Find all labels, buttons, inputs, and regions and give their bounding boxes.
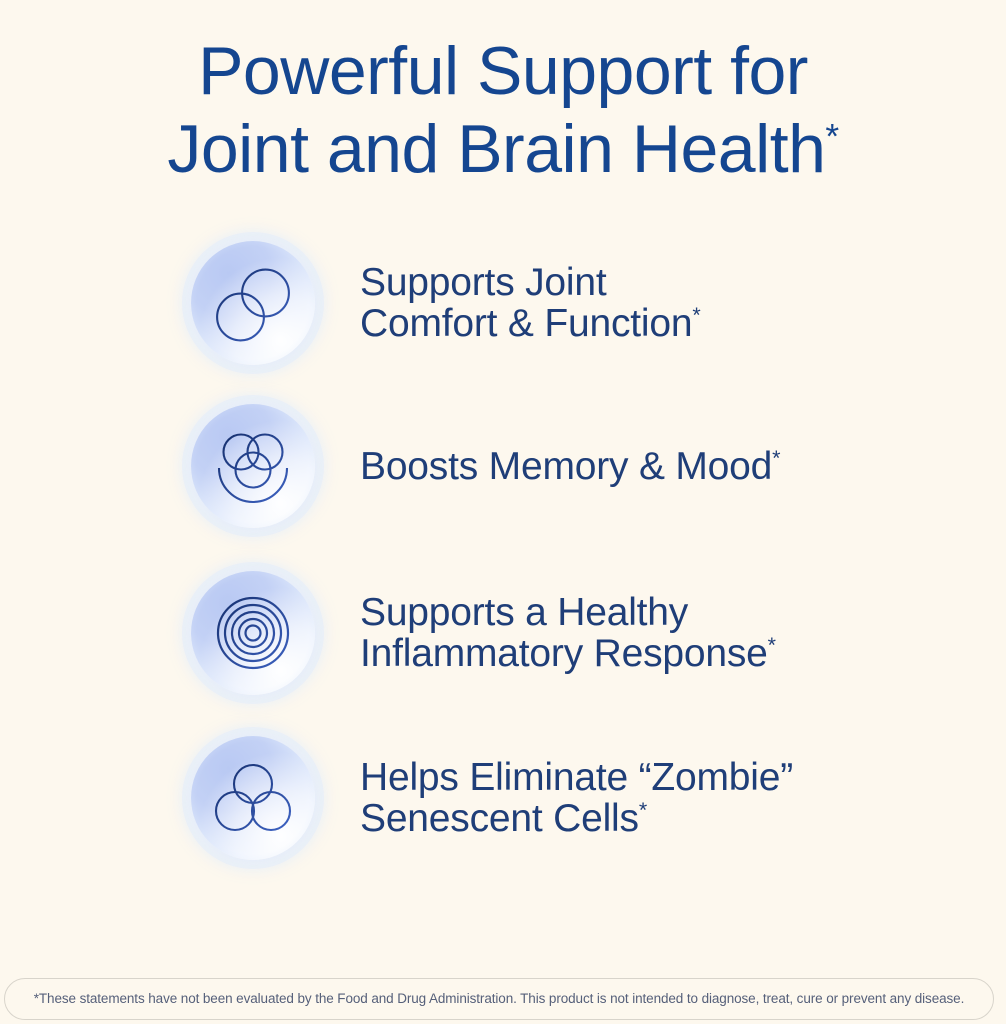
disclaimer-text: *These statements have not been evaluate…	[34, 991, 964, 1007]
benefit-label-line-2: Inflammatory Response*	[360, 633, 776, 674]
two-overlapping-circles-joint-icon	[191, 241, 315, 365]
benefit-label-line-1-text: Boosts Memory & Mood	[360, 445, 772, 488]
benefit-item-inflammatory-response: Supports a Healthy Inflammatory Response…	[0, 558, 1006, 708]
benefit-label: Supports Joint Comfort & Function*	[360, 262, 701, 344]
benefit-icon-wrapper	[180, 725, 326, 871]
benefit-label: Boosts Memory & Mood*	[360, 446, 780, 487]
promotional-benefits-panel: Powerful Support for Joint and Brain Hea…	[0, 0, 1006, 1024]
benefit-asterisk: *	[692, 303, 700, 327]
benefit-asterisk: *	[768, 633, 776, 657]
benefit-label: Supports a Healthy Inflammatory Response…	[360, 592, 776, 674]
benefit-label-line-1: Supports Joint	[360, 262, 701, 303]
benefit-asterisk: *	[639, 798, 647, 822]
benefit-label-line-2: Comfort & Function*	[360, 303, 701, 344]
page-title-line-2-text: Joint and Brain Health	[167, 111, 825, 187]
benefit-label-line-1: Supports a Healthy	[360, 592, 776, 633]
page-title-line-1: Powerful Support for	[0, 32, 1006, 110]
benefit-icon-wrapper	[180, 230, 326, 376]
benefit-label-line-2-text: Inflammatory Response	[360, 632, 768, 675]
benefit-icon-wrapper	[180, 560, 326, 706]
benefit-item-joint-comfort: Supports Joint Comfort & Function*	[0, 228, 1006, 378]
benefit-item-memory-mood: Boosts Memory & Mood*	[0, 391, 1006, 541]
disclaimer-box: *These statements have not been evaluate…	[4, 978, 994, 1020]
benefit-label: Helps Eliminate “Zombie” Senescent Cells…	[360, 757, 793, 839]
benefit-label-line-2-text: Comfort & Function	[360, 302, 692, 345]
benefit-label-line-2-text: Senescent Cells	[360, 797, 639, 840]
benefit-icon-wrapper	[180, 393, 326, 539]
benefit-label-line-1: Helps Eliminate “Zombie”	[360, 757, 793, 798]
page-title-asterisk: *	[825, 117, 838, 156]
page-title: Powerful Support for Joint and Brain Hea…	[0, 32, 1006, 188]
benefit-item-senescent-cells: Helps Eliminate “Zombie” Senescent Cells…	[0, 723, 1006, 873]
benefit-label-line-1: Boosts Memory & Mood*	[360, 446, 780, 487]
page-title-line-2: Joint and Brain Health*	[0, 110, 1006, 188]
benefit-label-line-2: Senescent Cells*	[360, 798, 793, 839]
three-circle-cluster-cells-icon	[191, 736, 315, 860]
benefit-asterisk: *	[772, 446, 780, 470]
brain-venn-smile-icon	[191, 404, 315, 528]
concentric-rings-icon	[191, 571, 315, 695]
